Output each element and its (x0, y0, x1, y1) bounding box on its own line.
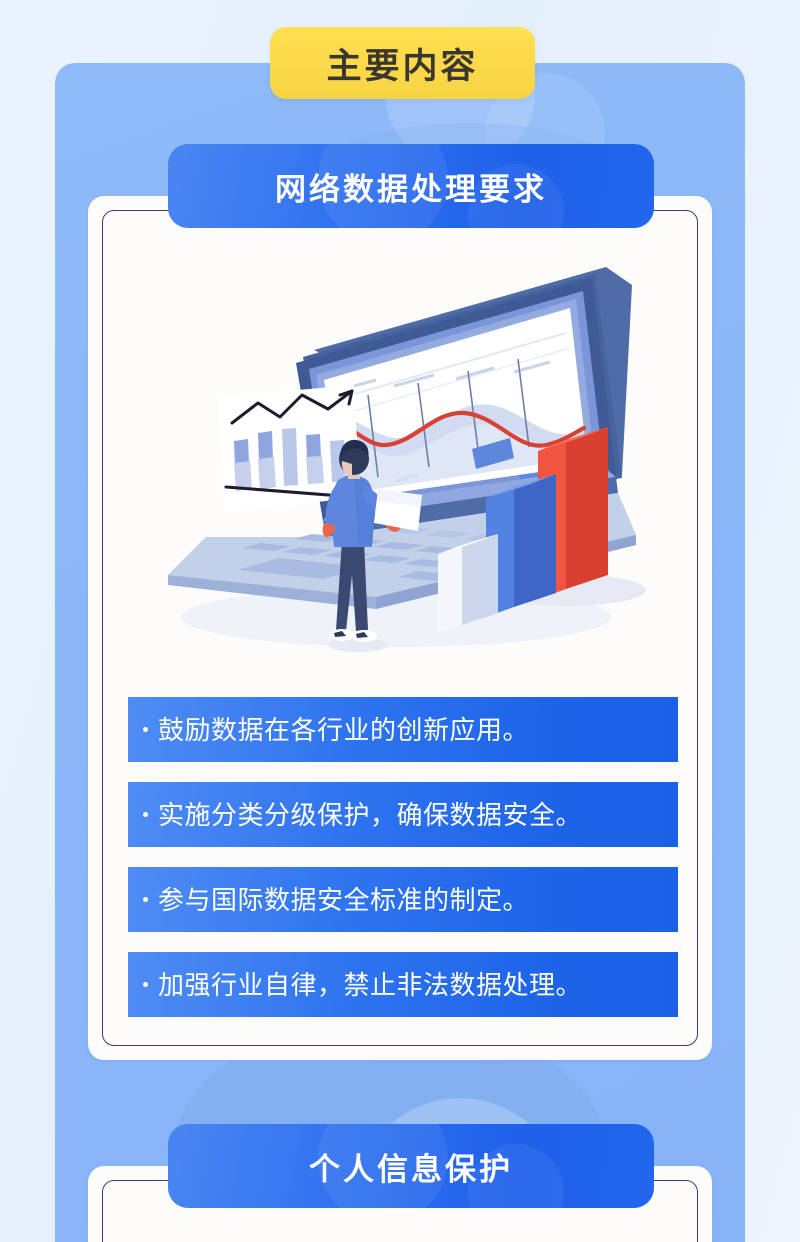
bullet-item[interactable]: 参与国际数据安全标准的制定。 (128, 867, 678, 932)
bullet-item[interactable]: 实施分类分级保护，确保数据安全。 (128, 782, 678, 847)
bullet-item-label: 鼓励数据在各行业的创新应用。 (158, 717, 529, 743)
bullet-list: 鼓励数据在各行业的创新应用。 实施分类分级保护，确保数据安全。 参与国际数据安全… (128, 697, 678, 1037)
bullet-dot-icon (143, 897, 148, 902)
bullet-dot-icon (143, 727, 148, 732)
main-title-banner: 主要内容 (270, 27, 535, 99)
bullet-item[interactable]: 鼓励数据在各行业的创新应用。 (128, 697, 678, 762)
main-title-text: 主要内容 (326, 38, 478, 89)
bullet-item-label: 加强行业自律，禁止非法数据处理。 (158, 972, 582, 998)
section-header-personal-info: 个人信息保护 (168, 1124, 654, 1208)
infographic-page: 主要内容 (0, 0, 800, 1242)
section-header-network-data: 网络数据处理要求 (168, 144, 654, 228)
bullet-dot-icon (143, 812, 148, 817)
data-analytics-illustration (146, 245, 646, 675)
section-header-text: 个人信息保护 (309, 1144, 513, 1189)
bullet-item-label: 实施分类分级保护，确保数据安全。 (158, 802, 582, 828)
bullet-item-label: 参与国际数据安全标准的制定。 (158, 887, 529, 913)
bullet-item[interactable]: 加强行业自律，禁止非法数据处理。 (128, 952, 678, 1017)
bullet-dot-icon (143, 982, 148, 987)
section-header-text: 网络数据处理要求 (275, 164, 547, 209)
